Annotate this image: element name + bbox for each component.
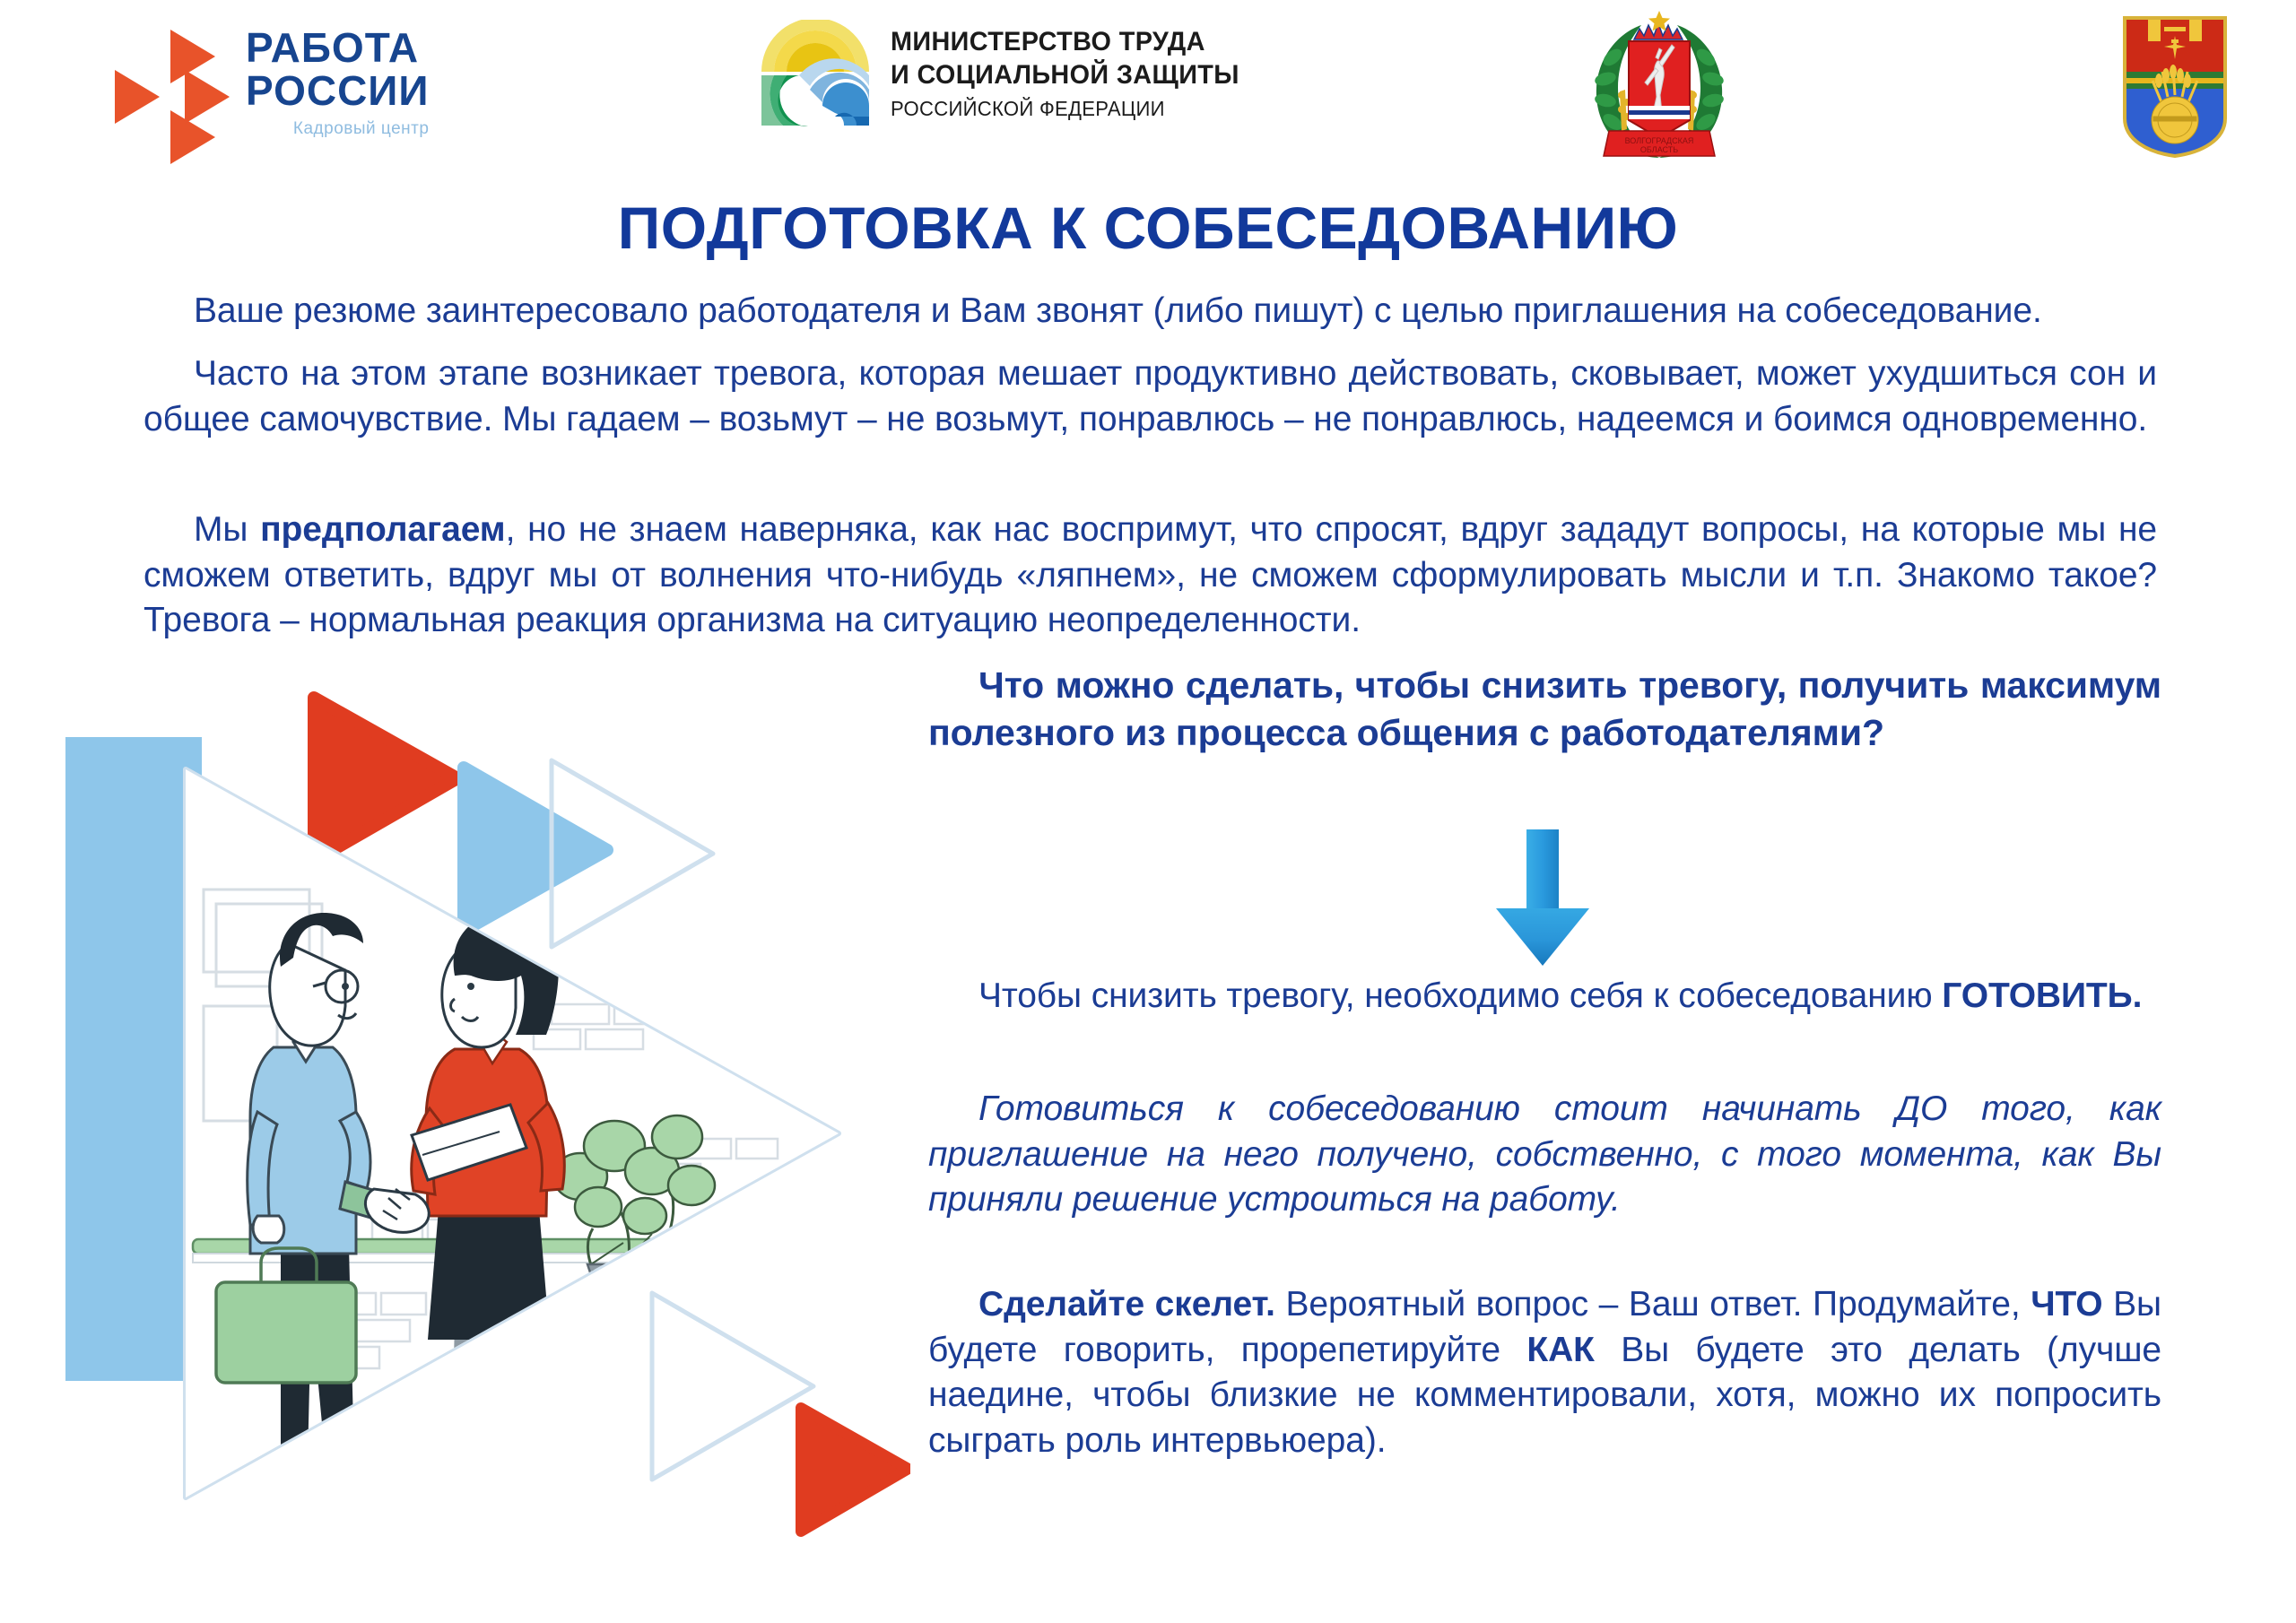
- paragraph-skeleton-bold2: ЧТО: [2031, 1285, 2102, 1324]
- paragraph-skeleton-t1: Вероятный вопрос – Ваш ответ. Продумайте…: [1275, 1285, 2031, 1324]
- ministry-line2: И СОЦИАЛЬНОЙ ЗАЩИТЫ: [891, 59, 1239, 92]
- paragraph-prepare: Чтобы снизить тревогу, необходимо себя к…: [928, 974, 2161, 1020]
- paragraph-question-text: Что можно сделать, чтобы снизить тревогу…: [928, 664, 2161, 753]
- paragraph-when-to-start-text: Готовиться к собеседованию стоит начинат…: [928, 1089, 2161, 1219]
- svg-text:ВОЛГОГРАДСКАЯ: ВОЛГОГРАДСКАЯ: [1625, 136, 1694, 145]
- rabota-rossii-mark-icon: [115, 28, 231, 137]
- paragraph-assumption: Мы предполагаем, но не знаем наверняка, …: [143, 508, 2157, 644]
- paragraph-anxiety-text: Часто на этом этапе возникает тревога, к…: [143, 354, 2157, 438]
- ministry-line1: МИНИСТЕРСТВО ТРУДА: [891, 26, 1239, 59]
- paragraph-question: Что можно сделать, чтобы снизить тревогу…: [928, 662, 2161, 758]
- volgograd-city-coat-of-arms-icon: [2112, 13, 2238, 161]
- volgograd-oblast-coat-of-arms-icon: ВОЛГОГРАДСКАЯ ОБЛАСТЬ: [1578, 5, 1740, 167]
- paragraph-intro-text: Ваше резюме заинтересовало работодателя …: [194, 291, 2042, 330]
- header-logos: РАБОТА РОССИИ Кадровый центр: [0, 0, 2296, 175]
- paragraph-when-to-start: Готовиться к собеседованию стоит начинат…: [928, 1087, 2161, 1223]
- rabota-rossii-logo: РАБОТА РОССИИ Кадровый центр: [115, 27, 429, 139]
- ministry-emblem-icon: [758, 20, 873, 127]
- rabota-rossii-line1: РАБОТА: [246, 27, 429, 70]
- handshake-interview-illustration: [49, 690, 910, 1578]
- rabota-rossii-line2: РОССИИ: [246, 70, 429, 113]
- rabota-rossii-subtitle: Кадровый центр: [246, 119, 429, 139]
- paragraph-assumption-bold: предполагаем: [260, 510, 505, 549]
- paragraph-skeleton-bold3: КАК: [1526, 1331, 1594, 1369]
- paragraph-prepare-bold: ГОТОВИТЬ.: [1942, 976, 2142, 1015]
- paragraph-skeleton-bold1: Сделайте скелет.: [978, 1285, 1275, 1324]
- down-arrow-icon: [1489, 829, 1596, 973]
- paragraph-skeleton: Сделайте скелет. Вероятный вопрос – Ваш …: [928, 1282, 2161, 1464]
- ministry-logo: МИНИСТЕРСТВО ТРУДА И СОЦИАЛЬНОЙ ЗАЩИТЫ Р…: [758, 20, 1254, 127]
- paragraph-prepare-pre: Чтобы снизить тревогу, необходимо себя к…: [978, 976, 1942, 1015]
- poster-page: РАБОТА РОССИИ Кадровый центр: [0, 0, 2296, 1623]
- ministry-line3: РОССИЙСКОЙ ФЕДЕРАЦИИ: [891, 97, 1239, 121]
- page-title: ПОДГОТОВКА К СОБЕСЕДОВАНИЮ: [0, 194, 2296, 262]
- paragraph-intro: Ваше резюме заинтересовало работодателя …: [143, 289, 2157, 334]
- paragraph-assumption-pre: Мы: [194, 510, 260, 549]
- svg-text:ОБЛАСТЬ: ОБЛАСТЬ: [1640, 145, 1678, 154]
- paragraph-anxiety: Часто на этом этапе возникает тревога, к…: [143, 352, 2157, 442]
